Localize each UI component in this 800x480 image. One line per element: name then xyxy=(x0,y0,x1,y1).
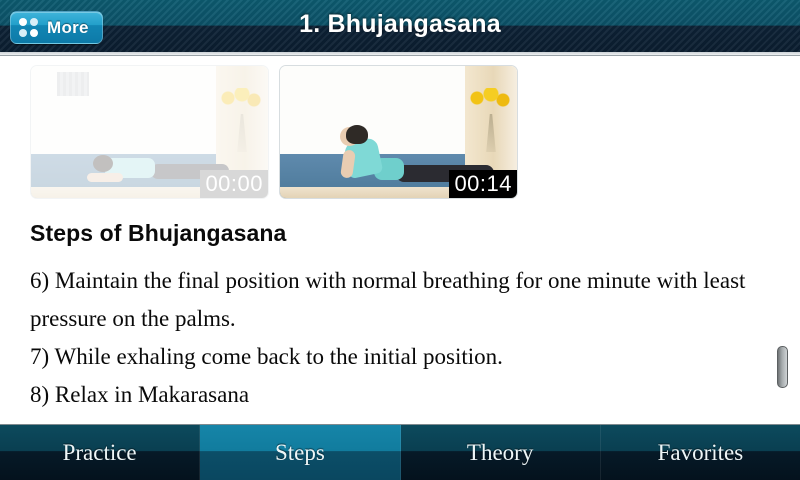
tab-favorites[interactable]: Favorites xyxy=(601,425,800,480)
figure-hair xyxy=(346,125,368,144)
video-thumbnail-2[interactable]: 00:14 xyxy=(279,65,518,199)
page-title: 1. Bhujangasana xyxy=(0,10,800,39)
app-header: More 1. Bhujangasana xyxy=(0,0,800,56)
step-line-6: 6) Maintain the final position with norm… xyxy=(30,262,764,338)
timestamp-badge-2: 00:14 xyxy=(449,170,517,198)
scrollbar-track[interactable] xyxy=(778,208,790,424)
tab-practice[interactable]: Practice xyxy=(0,425,200,480)
bottom-tab-bar: Practice Steps Theory Favorites xyxy=(0,424,800,480)
tab-theory[interactable]: Theory xyxy=(401,425,601,480)
scrollbar-thumb[interactable] xyxy=(777,346,788,388)
steps-content-area[interactable]: Steps of Bhujangasana 6) Maintain the fi… xyxy=(0,208,800,424)
steps-heading: Steps of Bhujangasana xyxy=(30,220,764,247)
figure-arm xyxy=(87,173,123,182)
tab-steps[interactable]: Steps xyxy=(200,425,400,480)
mat-front-edge xyxy=(280,187,465,198)
flowers xyxy=(469,88,511,118)
flowers xyxy=(220,88,262,118)
figure-head xyxy=(93,155,113,172)
mat-front-edge xyxy=(31,187,216,198)
timestamp-badge-1: 00:00 xyxy=(200,170,268,198)
app-root: More 1. Bhujangasana 00:00 xyxy=(0,0,800,480)
step-line-7: 7) While exhaling come back to the initi… xyxy=(30,338,764,376)
wall-picture xyxy=(57,72,89,96)
steps-body: 6) Maintain the final position with norm… xyxy=(30,262,764,414)
video-thumbnail-1[interactable]: 00:00 xyxy=(30,65,269,199)
step-line-8: 8) Relax in Makarasana xyxy=(30,376,764,414)
video-thumbnail-strip: 00:00 00:14 xyxy=(0,56,800,208)
